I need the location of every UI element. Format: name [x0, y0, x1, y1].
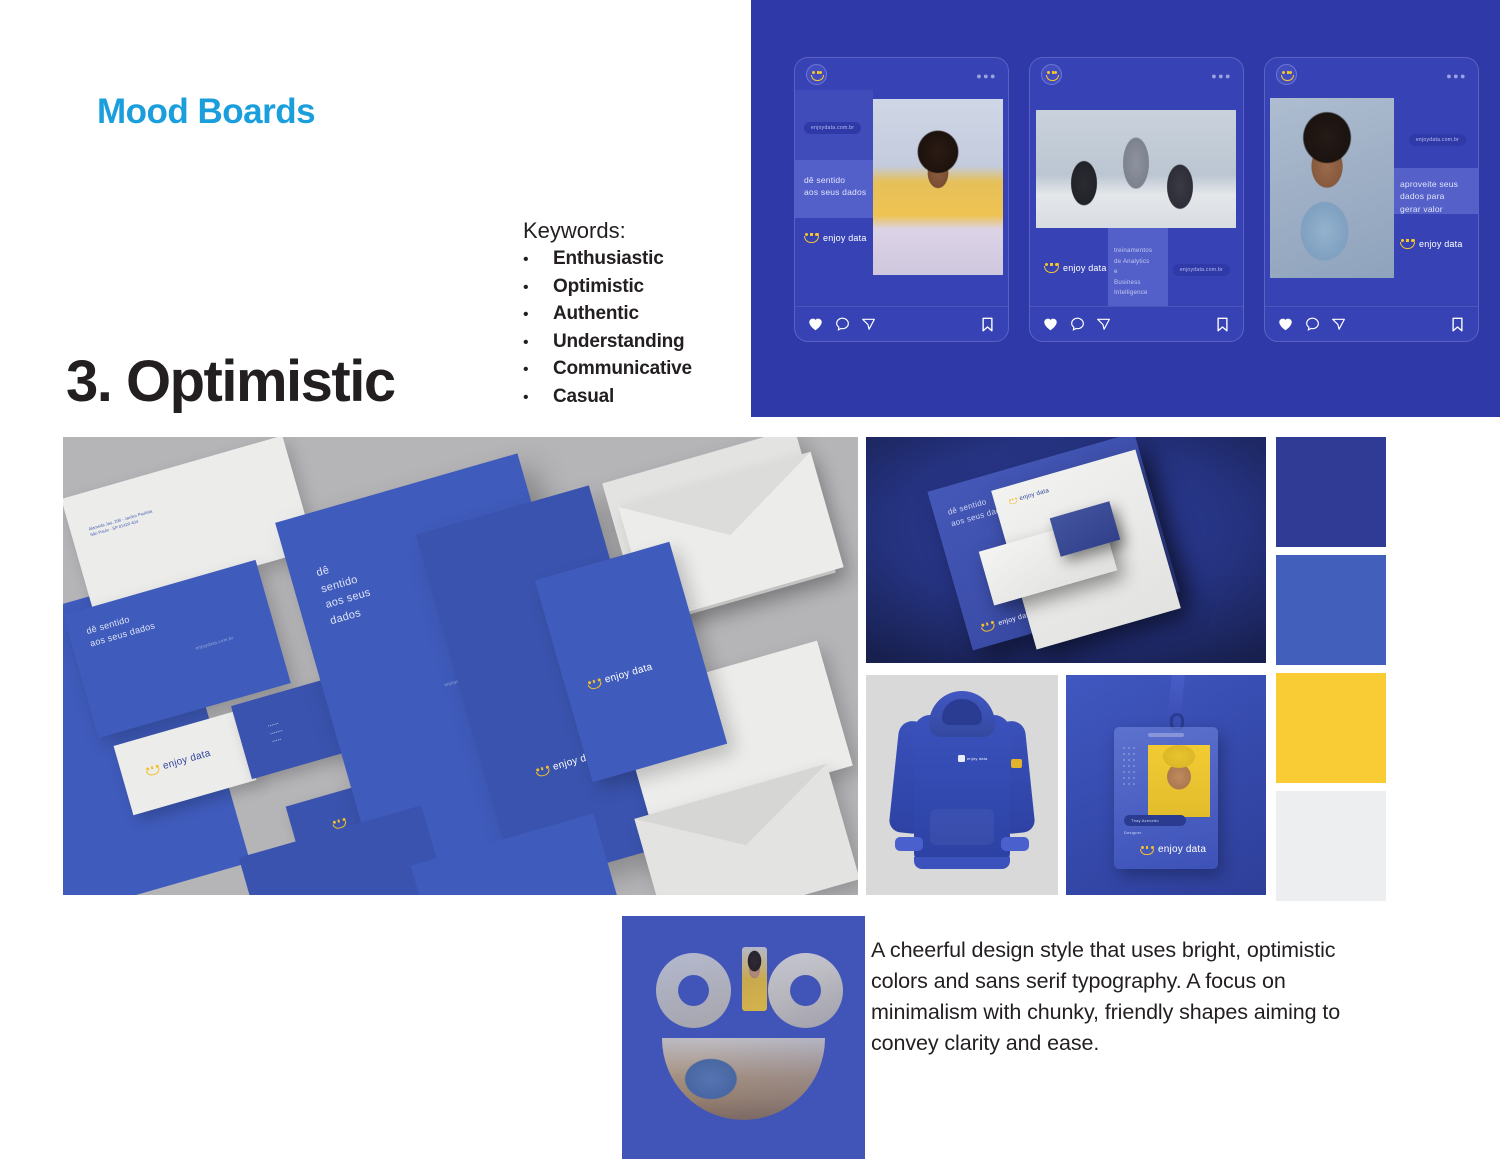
swatch-light-grey — [1276, 791, 1386, 901]
keyword-label: Authentic — [553, 303, 639, 325]
set-letter-logo: enjoy data — [1008, 487, 1050, 505]
smiley-mouth-icon — [662, 1038, 825, 1120]
page-title: Mood Boards — [97, 92, 315, 132]
mood-board-page: Mood Boards 3. Optimistic Keywords: • En… — [0, 0, 1500, 1159]
sheet-logo: enjoy data — [586, 662, 654, 691]
folder-slogan: dê sentido aos seus dados — [314, 553, 377, 629]
enjoy-data-mark-icon — [958, 755, 965, 762]
keyword-item: • Communicative — [523, 358, 748, 380]
smiley-eye-right-icon — [768, 953, 843, 1028]
enjoy-data-smiley-icon — [806, 64, 827, 85]
keyword-item: • Optimistic — [523, 276, 748, 298]
keyword-label: Casual — [553, 386, 614, 408]
brand-name: enjoy data — [967, 756, 987, 761]
share-icon[interactable] — [861, 317, 876, 331]
comment-icon[interactable] — [1305, 317, 1320, 331]
keywords-heading: Keywords: — [523, 218, 748, 244]
post-body: enjoy data treinamentos de Analytics e B… — [1030, 90, 1243, 306]
brand-logo: enjoy data — [1400, 238, 1463, 249]
share-icon[interactable] — [1096, 317, 1111, 331]
enjoy-data-smiley-icon — [586, 677, 602, 690]
site-tag: enjoydata.com.br — [1173, 264, 1230, 276]
post-header: ●●● — [1265, 58, 1478, 90]
brand-name: enjoy data — [1419, 239, 1463, 249]
post-photo — [1036, 110, 1236, 228]
brand-name: enjoy data — [162, 748, 212, 772]
keyword-label: Understanding — [553, 331, 684, 353]
brand-name: enjoy data — [823, 233, 867, 243]
badge-pattern — [1123, 747, 1141, 791]
post-body: enjoydata.com.br dê sentido aos seus dad… — [795, 90, 1008, 306]
section-title: 3. Optimistic — [66, 348, 395, 415]
enjoy-data-smiley-icon — [804, 232, 819, 243]
bullet-icon: • — [523, 335, 553, 351]
bullet-icon: • — [523, 362, 553, 378]
bullet-icon: • — [523, 307, 553, 323]
keywords-block: Keywords: • Enthusiastic • Optimistic • … — [523, 218, 748, 413]
swatch-yellow — [1276, 673, 1386, 783]
enjoy-data-smiley-icon — [1276, 64, 1297, 85]
brand-logo: enjoy data — [804, 232, 867, 243]
more-options-icon[interactable]: ●●● — [1211, 71, 1232, 81]
letter-slogan: dê sentido aos seus dados — [85, 607, 157, 651]
share-icon[interactable] — [1331, 317, 1346, 331]
enjoy-data-smiley-icon — [1400, 238, 1415, 249]
keyword-item: • Enthusiastic — [523, 248, 748, 270]
post-header: ●●● — [1030, 58, 1243, 90]
post-caption: treinamentos de Analytics e Business Int… — [1114, 246, 1152, 299]
brand-name: enjoy data — [604, 662, 654, 686]
bullet-icon: • — [523, 252, 553, 268]
badge-person-name: Thay Azevedo — [1131, 818, 1159, 823]
stationery-set-photo: dê sentido aos seus dados enjoy data enj… — [866, 437, 1266, 663]
bullet-icon: • — [523, 280, 553, 296]
bookmark-icon[interactable] — [1451, 317, 1464, 332]
site-tag: enjoydata.com.br — [1409, 134, 1466, 146]
post-card-3: ●●● enjoydata.com.br aproveite seus dado… — [1264, 57, 1479, 342]
letter-site: enjoydata.com.br — [195, 635, 234, 651]
site-tag: enjoydata.com.br — [804, 122, 861, 134]
brand-name: enjoy data — [1158, 844, 1206, 855]
smiley-eye-left-icon — [656, 953, 731, 1028]
badge-role: Designer — [1124, 830, 1142, 835]
envelope-address: Alameda Jau, 296 - Jardim Paulista São P… — [88, 508, 155, 538]
brand-name: enjoy data — [1063, 263, 1107, 273]
keyword-item: • Authentic — [523, 303, 748, 325]
hoodie-chest-logo: enjoy data — [958, 755, 987, 762]
enjoy-data-smiley-icon — [1140, 845, 1154, 855]
post-header: ●●● — [795, 58, 1008, 90]
more-options-icon[interactable]: ●●● — [1446, 71, 1467, 81]
sleeve-patch-icon — [1011, 759, 1022, 768]
post-card-1: ●●● enjoydata.com.br dê sentido aos seus… — [794, 57, 1009, 342]
keyword-label: Communicative — [553, 358, 692, 380]
hoodie-mockup: enjoy data — [866, 675, 1058, 895]
enjoy-data-smiley-icon — [1044, 262, 1059, 273]
badge-name-bar: Thay Azevedo — [1124, 815, 1186, 826]
swatch-navy — [1276, 437, 1386, 547]
comment-icon[interactable] — [835, 317, 850, 331]
keyword-label: Enthusiastic — [553, 248, 664, 270]
smiley-collage-image — [622, 916, 865, 1159]
enjoy-data-smiley-icon — [144, 763, 160, 776]
post-card-2: ●●● enjoy data treinamentos de Analytics… — [1029, 57, 1244, 342]
brand-logo: enjoy data — [1044, 262, 1107, 273]
keyword-item: • Casual — [523, 386, 748, 408]
heart-icon[interactable] — [808, 317, 823, 331]
apparel-row: enjoy data T — [866, 675, 1266, 895]
post-slogan: aproveite seus dados para gerar valor — [1400, 178, 1458, 215]
brand-name: enjoy data — [1019, 487, 1050, 502]
bookmark-icon[interactable] — [981, 317, 994, 332]
keyword-item: • Understanding — [523, 331, 748, 353]
id-badge-mockup: Thay Azevedo Designer enjoy data — [1066, 675, 1266, 895]
enjoy-data-smiley-icon — [1041, 64, 1062, 85]
description-text: A cheerful design style that uses bright… — [871, 935, 1371, 1059]
enjoy-data-smiley-icon — [1008, 496, 1018, 504]
badge-photo — [1148, 745, 1210, 817]
card-detail: •••••• ••••••• ••••• — [267, 719, 286, 746]
heart-icon[interactable] — [1278, 317, 1293, 331]
post-slogan: dê sentido aos seus dados — [804, 174, 866, 199]
smiley-nose-icon — [742, 947, 767, 1011]
keyword-label: Optimistic — [553, 276, 644, 298]
heart-icon[interactable] — [1043, 317, 1058, 331]
post-actions — [1265, 306, 1478, 342]
post-actions — [795, 306, 1008, 342]
lanyard-icon — [1168, 675, 1186, 718]
swatch-blue — [1276, 555, 1386, 665]
enjoy-data-smiley-icon — [535, 764, 551, 777]
business-card-logo: enjoy data — [144, 748, 212, 777]
badge-logo: enjoy data — [1140, 844, 1206, 855]
comment-icon[interactable] — [1070, 317, 1085, 331]
social-posts-panel: ●●● enjoydata.com.br dê sentido aos seus… — [751, 0, 1500, 417]
post-photo — [873, 99, 1003, 275]
post-actions — [1030, 306, 1243, 342]
stationery-mockup: Alameda Jau, 296 - Jardim Paulista São P… — [63, 437, 858, 895]
post-body: enjoydata.com.br aproveite seus dados pa… — [1265, 90, 1478, 306]
enjoy-data-smiley-icon — [980, 620, 996, 633]
bookmark-icon[interactable] — [1216, 317, 1229, 332]
post-photo — [1270, 98, 1394, 278]
more-options-icon[interactable]: ●●● — [976, 71, 997, 81]
bullet-icon: • — [523, 390, 553, 406]
